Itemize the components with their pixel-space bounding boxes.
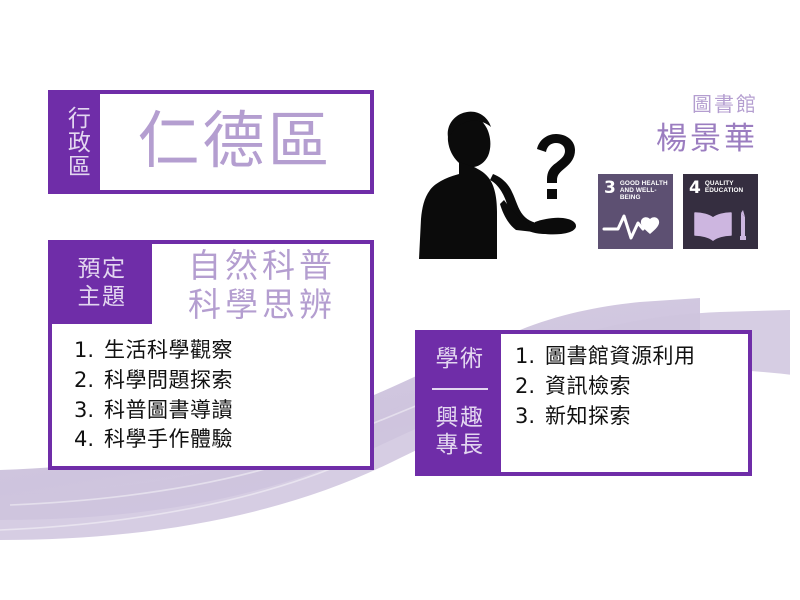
slide-canvas: 行政區 仁德區 預定 主題 自然科普 科學思辨 1. 生活科學觀察 2. 科學問 — [0, 0, 800, 600]
open-book-pencil-icon — [683, 203, 758, 245]
topics-list: 1. 生活科學觀察 2. 科學問題探索 3. 科普圖書導讀 4. 科學手作體驗 — [74, 336, 233, 455]
list-item: 2. 科學問題探索 — [74, 366, 233, 396]
list-item-number: 2. — [74, 366, 104, 396]
topics-card-header: 預定 主題 自然科普 科學思辨 — [52, 244, 370, 324]
sdg-badge-3-good-health-and-well-being: 3 Good Health and Well-being — [598, 174, 673, 249]
topics-tab-label-line2: 主題 — [78, 284, 127, 312]
academic-tab: 學術 興趣 專長 — [419, 334, 501, 472]
academic-list: 1. 圖書館資源利用 2. 資訊檢索 3. 新知探索 — [501, 334, 748, 431]
list-item-text: 科學手作體驗 — [104, 425, 233, 455]
academic-card-body: 1. 圖書館資源利用 2. 資訊檢索 3. 新知探索 — [501, 334, 748, 472]
academic-card: 學術 興趣 專長 1. 圖書館資源利用 2. 資訊檢索 3. 新知探索 — [415, 330, 752, 476]
list-item: 4. 科學手作體驗 — [74, 425, 233, 455]
sdg-badge-4-number: 4 — [689, 180, 701, 196]
list-item-text: 新知探索 — [545, 402, 631, 432]
district-tab: 行政區 — [52, 94, 100, 190]
list-item-number: 1. — [515, 342, 545, 372]
district-card-body: 仁德區 — [100, 94, 370, 190]
person-name: 楊景華 — [656, 120, 758, 159]
sdg-badge-4-quality-education: 4 Quality Education — [683, 174, 758, 249]
list-item-text: 科普圖書導讀 — [104, 396, 233, 426]
list-item-number: 4. — [74, 425, 104, 455]
topics-tab-label-line1: 預定 — [78, 256, 127, 284]
topics-heading-line2: 科學思辨 — [158, 286, 366, 325]
list-item: 2. 資訊檢索 — [515, 372, 748, 402]
academic-tab-label-bottom: 興趣 專長 — [436, 405, 485, 460]
list-item: 1. 圖書館資源利用 — [515, 342, 748, 372]
question-mark-icon — [537, 134, 575, 199]
topics-card: 預定 主題 自然科普 科學思辨 1. 生活科學觀察 2. 科學問題探索 3. 科… — [48, 240, 374, 470]
academic-tab-label-bottom-line2: 專長 — [436, 432, 485, 460]
list-item-number: 3. — [74, 396, 104, 426]
list-item-number: 1. — [74, 336, 104, 366]
academic-tab-label-top: 學術 — [436, 346, 485, 374]
list-item: 3. 新知探索 — [515, 402, 748, 432]
list-item-text: 資訊檢索 — [545, 372, 631, 402]
list-item-text: 科學問題探索 — [104, 366, 233, 396]
man-silhouette-holding-question-mark-icon — [404, 104, 594, 259]
list-item-number: 3. — [515, 402, 545, 432]
sdg-badge-3-label: Good Health and Well-being — [620, 180, 668, 202]
district-tab-label: 行政區 — [64, 106, 89, 178]
heartbeat-icon — [598, 203, 673, 245]
sdg-badge-3-number: 3 — [604, 180, 616, 196]
district-name: 仁德區 — [137, 110, 332, 172]
sdg-badge-row: 3 Good Health and Well-being 4 Quality E… — [598, 174, 758, 249]
academic-tab-divider — [432, 388, 488, 390]
topics-heading: 自然科普 科學思辨 — [152, 244, 370, 324]
sdg-badge-4-header: 4 Quality Education — [683, 174, 758, 196]
list-item-number: 2. — [515, 372, 545, 402]
district-card: 行政區 仁德區 — [48, 90, 374, 194]
sdg-badge-3-label-line1: Good Health — [620, 180, 668, 187]
sdg-badge-3-label-line2: and Well-being — [620, 187, 657, 201]
topics-heading-line1: 自然科普 — [158, 247, 366, 286]
list-item: 3. 科普圖書導讀 — [74, 396, 233, 426]
list-item-text: 生活科學觀察 — [104, 336, 233, 366]
sdg-badge-4-label-line2: Education — [705, 187, 743, 194]
department-name: 圖書館 — [656, 92, 758, 116]
sdg-badge-4-label-line1: Quality — [705, 180, 734, 187]
sdg-badge-4-label: Quality Education — [705, 180, 743, 194]
header-identity: 圖書館 楊景華 — [656, 92, 758, 159]
list-item-text: 圖書館資源利用 — [545, 342, 696, 372]
academic-tab-label-bottom-line1: 興趣 — [436, 405, 485, 433]
list-item: 1. 生活科學觀察 — [74, 336, 233, 366]
topics-tab: 預定 主題 — [52, 244, 152, 324]
sdg-badge-3-header: 3 Good Health and Well-being — [598, 174, 673, 202]
